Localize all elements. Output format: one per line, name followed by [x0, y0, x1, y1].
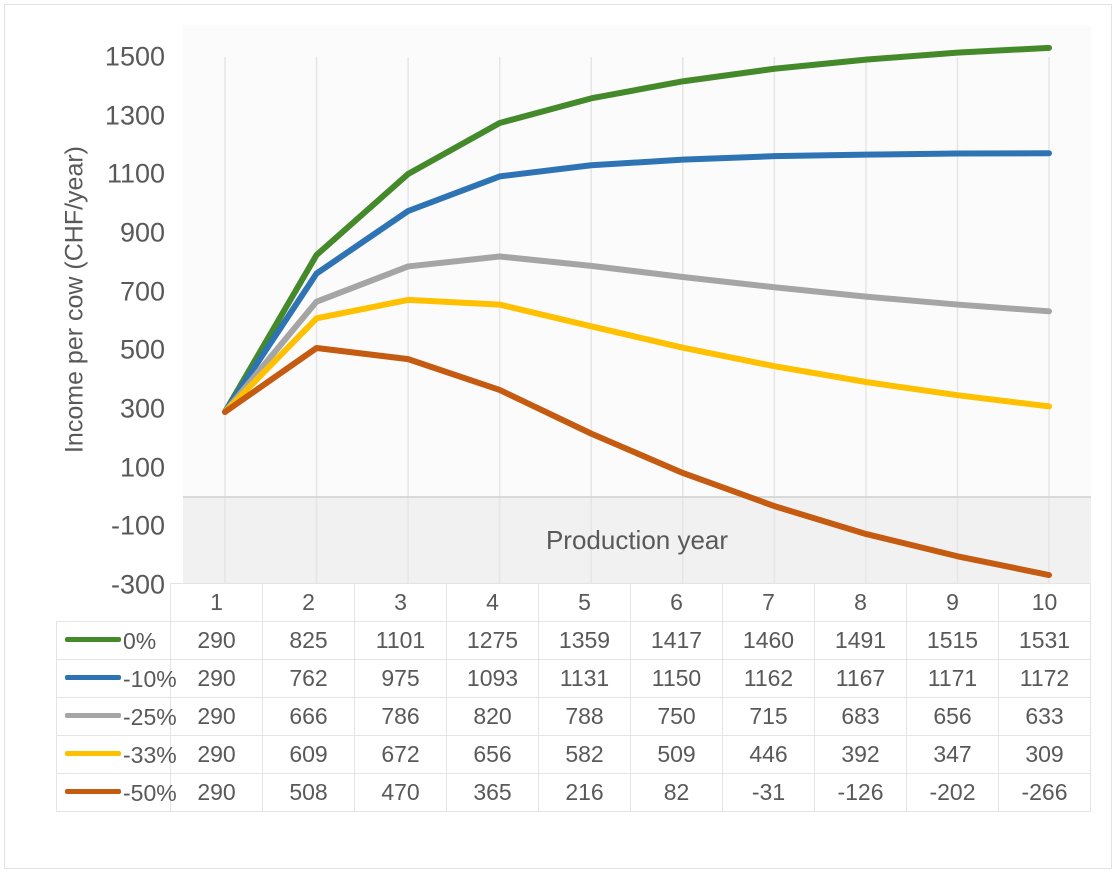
table-cell: 582: [539, 736, 631, 774]
legend-entry-0[interactable]: 0%: [57, 622, 171, 660]
table-cell: 825: [263, 622, 355, 660]
table-cell: 82: [631, 774, 723, 812]
y-axis-tick-1100: 1100: [63, 161, 165, 188]
table-cell: 715: [723, 698, 815, 736]
table-cell: 609: [263, 736, 355, 774]
table-cell: 290: [171, 660, 263, 698]
table-cell: 762: [263, 660, 355, 698]
series-line-1: [225, 153, 1049, 412]
table-cell: 1460: [723, 622, 815, 660]
table-column-header-8: 8: [815, 584, 907, 622]
table-cell: 1131: [539, 660, 631, 698]
table-cell: 1531: [999, 622, 1091, 660]
table-cell: 1162: [723, 660, 815, 698]
table-cell: 1417: [631, 622, 723, 660]
table-cell: 1172: [999, 660, 1091, 698]
legend-label: -50%: [123, 780, 177, 807]
table-cell: 672: [355, 736, 447, 774]
table-head: 12345678910: [57, 584, 1091, 622]
y-axis-tick-neg100: -100: [63, 513, 165, 540]
legend-entry-1[interactable]: -10%: [57, 660, 171, 698]
table-cell: 1171: [907, 660, 999, 698]
legend-label: -10%: [123, 666, 177, 693]
table-column-header-5: 5: [539, 584, 631, 622]
table-cell: -266: [999, 774, 1091, 812]
legend-swatch-icon: [65, 789, 121, 794]
y-axis-tick-700: 700: [63, 278, 165, 305]
table-cell: 656: [907, 698, 999, 736]
series-line-0: [225, 48, 1049, 412]
table-cell: 1359: [539, 622, 631, 660]
table-cell: 290: [171, 736, 263, 774]
legend-swatch-icon: [65, 637, 121, 642]
table-body: 0%29082511011275135914171460149115151531…: [57, 622, 1091, 812]
y-axis-tick-900: 900: [63, 220, 165, 247]
table-column-header-1: 1: [171, 584, 263, 622]
legend-entry-4[interactable]: -50%: [57, 774, 171, 812]
table-cell: 508: [263, 774, 355, 812]
chart-page: Income per cow (CHF/year) 15001300110090…: [0, 0, 1116, 873]
table-cell: -31: [723, 774, 815, 812]
table-cell: 290: [171, 622, 263, 660]
table-cell: 446: [723, 736, 815, 774]
series-line-3: [225, 300, 1049, 412]
legend-label: -25%: [123, 704, 177, 731]
table-cell: 392: [815, 736, 907, 774]
table-cell: 750: [631, 698, 723, 736]
table-row: -50%29050847036521682-31-126-202-266: [57, 774, 1091, 812]
table-cell: 786: [355, 698, 447, 736]
legend-swatch-icon: [65, 675, 121, 680]
table-cell: 1515: [907, 622, 999, 660]
table-cell: 633: [999, 698, 1091, 736]
legend-label: -33%: [123, 742, 177, 769]
legend-entry-2[interactable]: -25%: [57, 698, 171, 736]
table-row: -33%290609672656582509446392347309: [57, 736, 1091, 774]
legend-label: 0%: [123, 628, 156, 655]
y-axis-tick-300: 300: [63, 396, 165, 423]
legend-swatch-icon: [65, 751, 121, 756]
table-column-header-10: 10: [999, 584, 1091, 622]
table-cell: 1101: [355, 622, 447, 660]
legend-entry-3[interactable]: -33%: [57, 736, 171, 774]
y-axis-tick-1300: 1300: [63, 102, 165, 129]
series-lines: [183, 25, 1091, 595]
table-column-header-7: 7: [723, 584, 815, 622]
y-axis-tick-100: 100: [63, 454, 165, 481]
x-axis-title: Production year: [183, 525, 1091, 556]
table-cell: 1150: [631, 660, 723, 698]
table-cell: 666: [263, 698, 355, 736]
y-axis-tick-1500: 1500: [63, 44, 165, 71]
table-cell: 365: [447, 774, 539, 812]
table-cell: 470: [355, 774, 447, 812]
table-column-header-3: 3: [355, 584, 447, 622]
plot-area: Production year: [183, 25, 1091, 595]
legend-swatch-icon: [65, 713, 121, 718]
table-header-row: 12345678910: [57, 584, 1091, 622]
table-column-header-9: 9: [907, 584, 999, 622]
table-column-header-6: 6: [631, 584, 723, 622]
table-cell: 509: [631, 736, 723, 774]
table-cell: -126: [815, 774, 907, 812]
table-cell: 1167: [815, 660, 907, 698]
table-cell: 347: [907, 736, 999, 774]
table-cell: 820: [447, 698, 539, 736]
y-axis-tick-500: 500: [63, 337, 165, 364]
table-cell: 309: [999, 736, 1091, 774]
table-cell: 290: [171, 774, 263, 812]
chart-canvas: Income per cow (CHF/year) 15001300110090…: [5, 5, 1116, 600]
table-corner-cell: [57, 584, 171, 622]
table-cell: 216: [539, 774, 631, 812]
table-cell: 656: [447, 736, 539, 774]
table-column-header-4: 4: [447, 584, 539, 622]
table-cell: 1275: [447, 622, 539, 660]
table-cell: 1491: [815, 622, 907, 660]
table-cell: 975: [355, 660, 447, 698]
table-cell: 683: [815, 698, 907, 736]
table-cell: 290: [171, 698, 263, 736]
table-cell: 1093: [447, 660, 539, 698]
data-table: 12345678910 0%29082511011275135914171460…: [56, 583, 1091, 812]
chart-frame: Income per cow (CHF/year) 15001300110090…: [4, 4, 1112, 869]
table-row: -10%290762975109311311150116211671171117…: [57, 660, 1091, 698]
table-cell: 788: [539, 698, 631, 736]
y-axis-tick-labels: 150013001100900700500300100-100-300: [63, 5, 165, 600]
table-row: -25%290666786820788750715683656633: [57, 698, 1091, 736]
table-column-header-2: 2: [263, 584, 355, 622]
table-cell: -202: [907, 774, 999, 812]
table-row: 0%29082511011275135914171460149115151531: [57, 622, 1091, 660]
